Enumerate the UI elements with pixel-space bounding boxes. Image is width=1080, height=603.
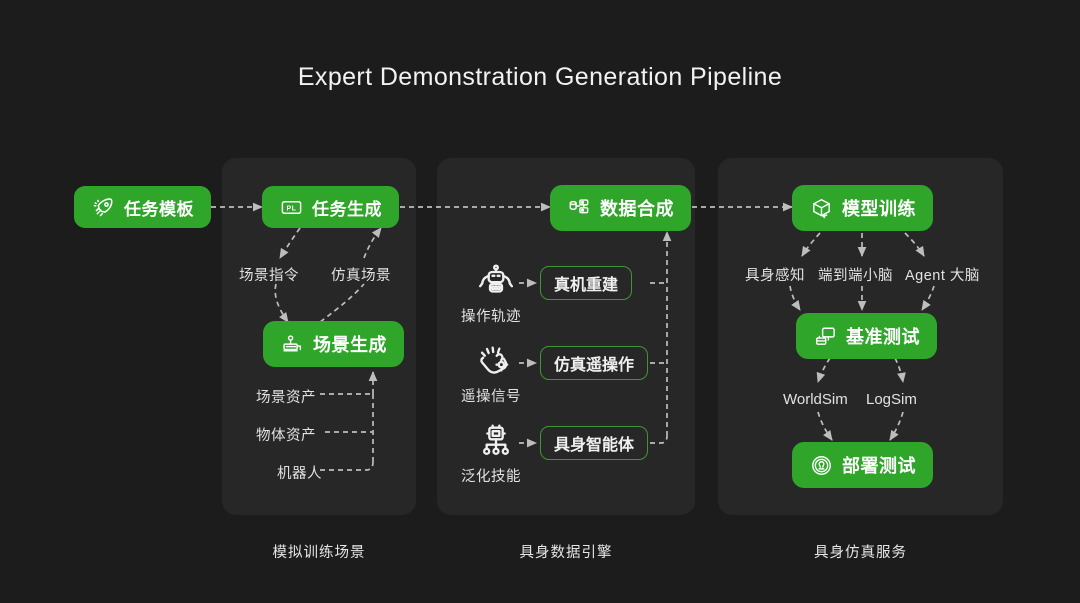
seal-badge-icon	[809, 453, 833, 477]
glove-icon	[473, 342, 519, 382]
asset-label-robot: 机器人	[277, 462, 322, 483]
sim-label-logsim: LogSim	[866, 391, 917, 408]
sim-label-worldsim: WorldSim	[783, 391, 848, 408]
source-label-generalization-skill: 泛化技能	[461, 465, 521, 486]
node-label: 任务模板	[124, 195, 194, 220]
monitor-device-icon	[813, 324, 837, 348]
node-label: 场景生成	[313, 331, 387, 357]
source-label-operation-trajectory: 操作轨迹	[461, 305, 521, 326]
asset-label-scene-asset: 场景资产	[256, 386, 316, 407]
asset-label-object-asset: 物体资产	[256, 424, 316, 445]
chip-net-icon	[473, 422, 519, 462]
flow-label-scene-instruction: 场景指令	[239, 264, 299, 285]
node-label: 基准测试	[846, 323, 920, 349]
panel-caption-embodied-data-engine: 具身数据引擎	[437, 541, 695, 562]
capability-label-end-to-end-cerebellum: 端到端小脑	[818, 264, 893, 285]
node-deployment-test[interactable]: 部署测试	[792, 442, 933, 488]
panel-caption-simulation-training-scene: 模拟训练场景	[222, 541, 416, 562]
source-label-teleop-signal: 遥操信号	[461, 385, 521, 406]
node-task-template[interactable]: 任务模板	[74, 186, 211, 228]
pipeline-diagram: Expert Demonstration Generation Pipeline	[0, 0, 1080, 603]
cube-rotate-icon	[809, 196, 833, 220]
node-task-generation[interactable]: PL 任务生成	[262, 186, 399, 228]
pl-badge-icon: PL	[279, 195, 303, 219]
flow-label-sim-scene: 仿真场景	[331, 264, 391, 285]
robot-arm-icon	[280, 332, 304, 356]
node-label: 任务生成	[312, 195, 382, 220]
node-model-training[interactable]: 模型训练	[792, 185, 933, 231]
node-scene-generation[interactable]: 场景生成	[263, 321, 404, 367]
page-title: Expert Demonstration Generation Pipeline	[0, 63, 1080, 92]
output-box-real-machine-reconstruction[interactable]: 真机重建	[540, 266, 632, 300]
svg-text:PL: PL	[286, 204, 296, 212]
node-label: 部署测试	[842, 452, 916, 478]
node-label: 数据合成	[600, 195, 674, 221]
node-benchmark-test[interactable]: 基准测试	[796, 313, 937, 359]
panel-caption-embodied-simulation-service: 具身仿真服务	[718, 541, 1003, 562]
rocket-icon	[91, 195, 115, 219]
output-box-embodied-agent[interactable]: 具身智能体	[540, 426, 648, 460]
data-sync-icon	[567, 196, 591, 220]
capability-label-embodied-perception: 具身感知	[745, 264, 805, 285]
node-data-synthesis[interactable]: 数据合成	[550, 185, 691, 231]
robot-icon	[473, 262, 519, 302]
capability-label-agent-brain: Agent 大脑	[905, 264, 980, 285]
node-label: 模型训练	[842, 195, 916, 221]
output-box-sim-teleoperation[interactable]: 仿真遥操作	[540, 346, 648, 380]
